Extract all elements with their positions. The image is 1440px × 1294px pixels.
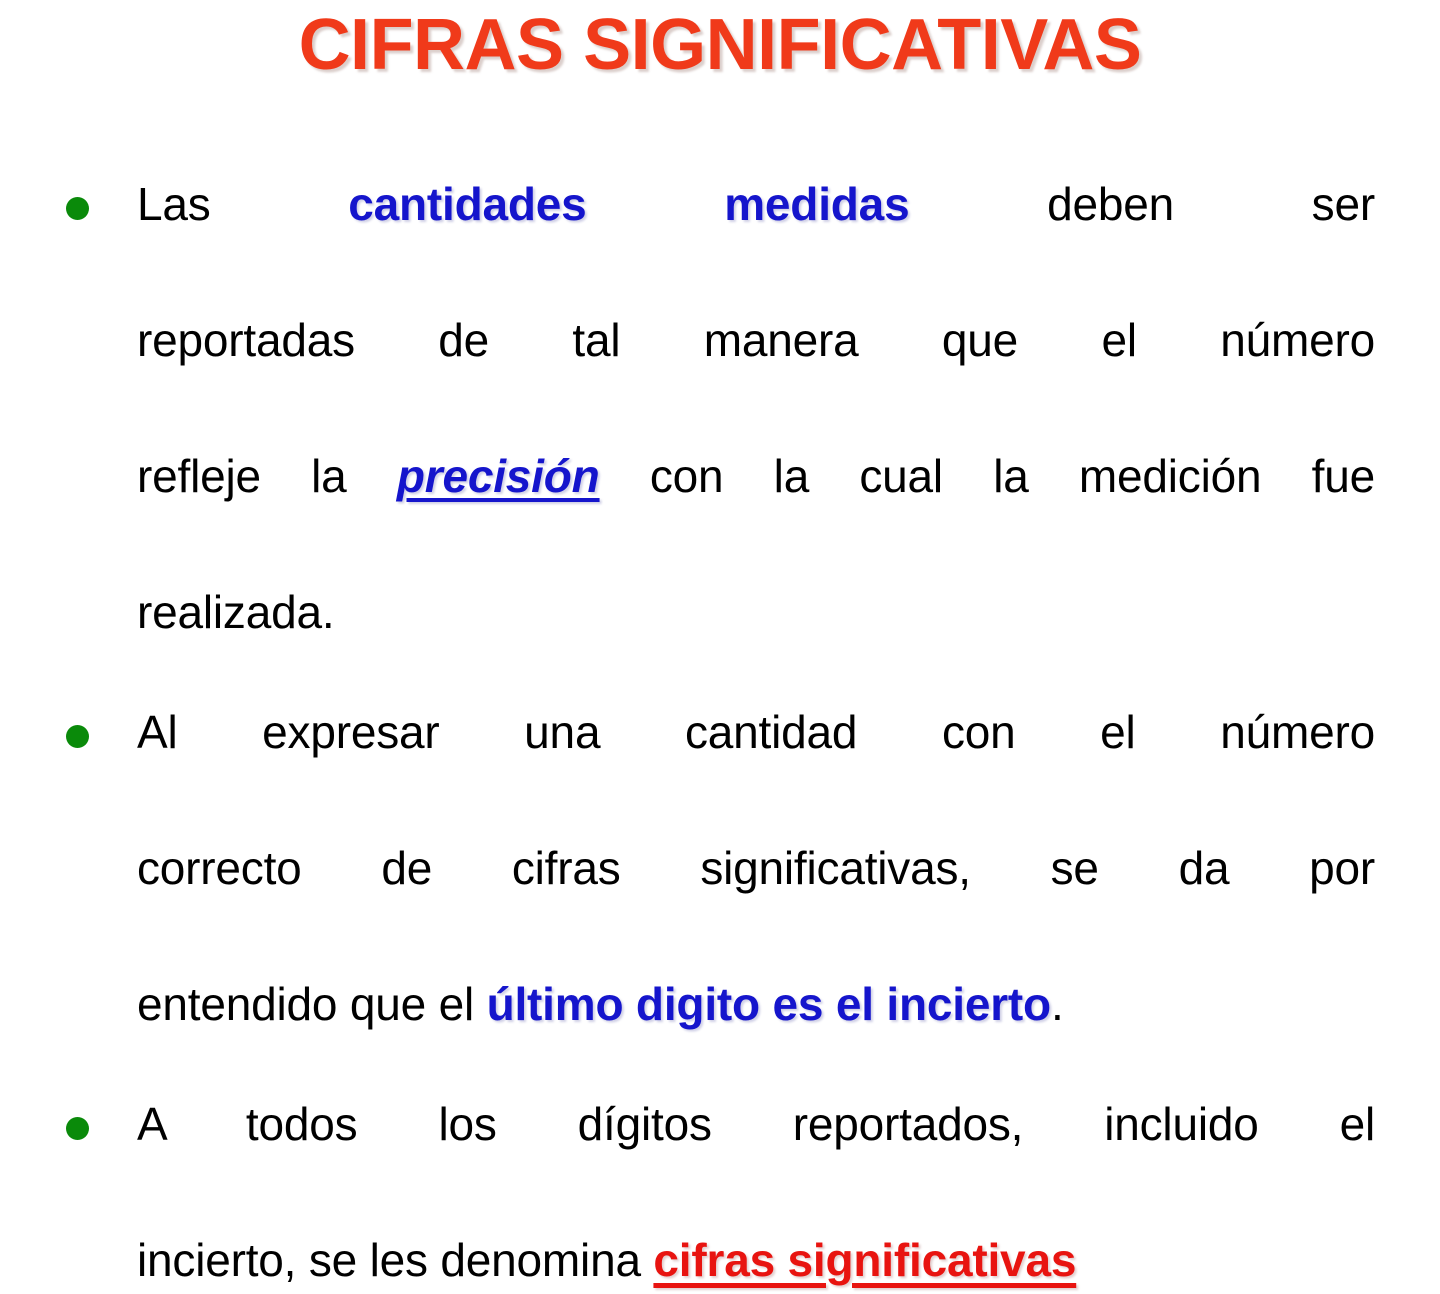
slide-title: CIFRAS SIGNIFICATIVAS [0,8,1440,84]
plain-text: con la cual la medición fue [600,450,1375,502]
bullet-text: Al expresar una cantidad con el númeroco… [137,698,1375,1038]
plain-text: correcto de cifras significativas, se da… [137,842,1375,894]
bullet-text: A todos los dígitos reportados, incluido… [137,1090,1375,1294]
bullet-dot-icon [66,725,89,748]
bullet-line: Al expresar una cantidad con el número [137,698,1375,834]
emphasis-text: cifras significativas [653,1234,1076,1286]
bullet-item: Al expresar una cantidad con el númeroco… [0,698,1440,1038]
slide-canvas: CIFRAS SIGNIFICATIVAS Las cantidades med… [0,0,1440,1080]
emphasis-text: medidas [724,178,909,230]
bullet-line: correcto de cifras significativas, se da… [137,834,1375,970]
plain-text: Al expresar una cantidad con el número [137,706,1375,758]
bullet-dot-icon [66,197,89,220]
bullet-line: incierto, se les denomina cifras signifi… [137,1226,1375,1294]
plain-text: . [1051,978,1064,1030]
bullet-text: Las cantidades medidas deben serreportad… [137,170,1375,646]
bullet-item: Las cantidades medidas deben serreportad… [0,170,1440,646]
plain-text: incierto, se les denomina [137,1234,653,1286]
plain-text: entendido que el [137,978,487,1030]
emphasis-text: cantidades [348,178,586,230]
bullet-line: entendido que el último digito es el inc… [137,970,1375,1038]
bullet-line: refleje la precisión con la cual la medi… [137,442,1375,578]
bullet-line: reportadas de tal manera que el número [137,306,1375,442]
bullet-dot-icon [66,1117,89,1140]
slide-body: Las cantidades medidas deben serreportad… [0,170,1440,1294]
bullet-line: A todos los dígitos reportados, incluido… [137,1090,1375,1226]
plain-text: reportadas de tal manera que el número [137,314,1375,366]
plain-text: A todos los dígitos reportados, incluido… [137,1098,1375,1150]
emphasis-text: precisión [397,450,600,502]
bullet-line: realizada. [137,578,1375,646]
plain-text [587,178,725,230]
bullet-item: A todos los dígitos reportados, incluido… [0,1090,1440,1294]
emphasis-text: último digito es el incierto [487,978,1051,1030]
plain-text: realizada. [137,586,334,638]
plain-text: deben ser [909,178,1375,230]
plain-text: refleje la [137,450,397,502]
plain-text: Las [137,178,348,230]
bullet-line: Las cantidades medidas deben ser [137,170,1375,306]
